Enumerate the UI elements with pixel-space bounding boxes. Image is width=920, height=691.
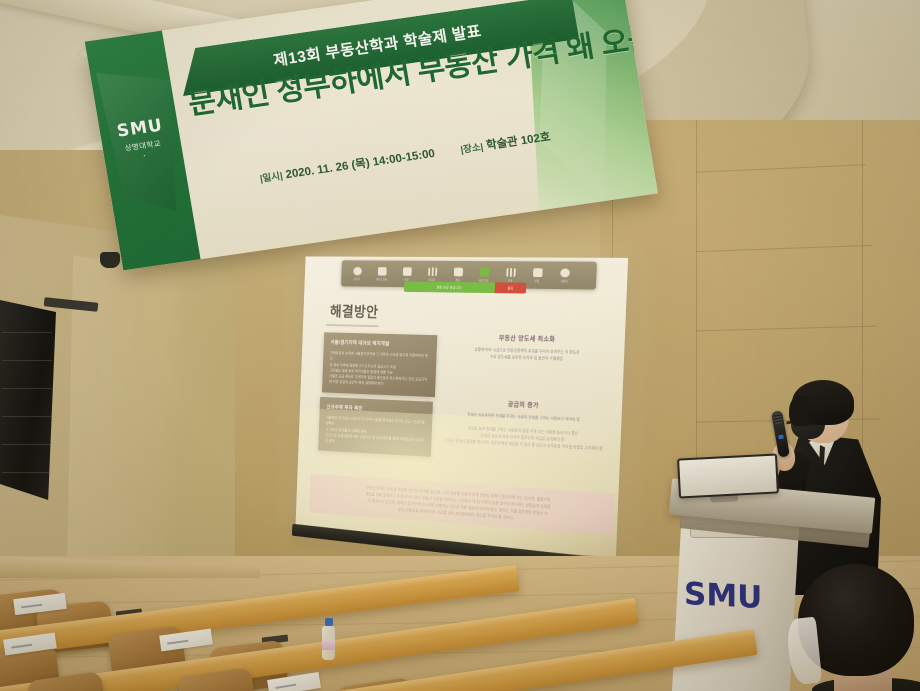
slide-box-line: 서울권 공급 확대로 주변지역 집값의 풍선효과 최소화하거나 신규 공급지역에… [329, 373, 429, 389]
slide-right-section-2: 공급의 증가 전세가 상승하려면 전세를 주려는 사람이 전세를 구하는 사람보… [440, 396, 608, 453]
podium-logo: SMU [684, 576, 762, 616]
toolbar-security-label: 보안 [404, 277, 408, 281]
banner-date-label: |일시| [259, 171, 283, 185]
video-icon [377, 267, 386, 276]
toolbar-chat-label: 채팅 [455, 278, 460, 282]
ceiling-camera-icon [100, 252, 120, 268]
toolbar-record-button[interactable]: 기록 [501, 268, 521, 283]
banner-place-label: |장소| [460, 142, 484, 156]
slide-title: 해결방안 [330, 301, 379, 322]
banner-date-value: 2020. 11. 26 (목) 14:00-15:00 [285, 148, 436, 181]
banner-date-group: |일시| 2020. 11. 26 (목) 14:00-15:00 [259, 145, 437, 186]
slide-right-section-1: 부동산 양도세 최소화 상황에 따라 시급으로 부동산정책적 효과를 우리가 보… [445, 332, 611, 365]
slide-section-title: 부동산 양도세 최소화 [446, 332, 611, 345]
slide-box-title: 신규주택 투자 촉진 [326, 404, 425, 415]
toolbar-more-label: 자세히 [561, 279, 568, 283]
projected-slide: 음소거 비디오 중지 보안 참가자 채팅 [295, 256, 628, 557]
toolbar-record-label: 기록 [508, 278, 513, 282]
confidence-monitor[interactable] [677, 453, 779, 498]
toolbar-mute-button[interactable]: 음소거 [348, 266, 366, 280]
slide-left-box-2: 신규주택 투자 촉진 서울에서 차지하는 단독/다가구주택 비중을 파악해서 추… [318, 397, 433, 457]
banner-smu-logo: SMU 상명대학교 • [111, 117, 173, 163]
sharing-status-label: 화면 공유 중입니다 [404, 281, 495, 293]
toolbar-chat-button[interactable]: 채팅 [448, 267, 467, 282]
sharing-status-strip[interactable]: 화면 공유 중입니다 중지 [404, 281, 526, 293]
slide-box-title: 서울/경기지역 대규모 택지개발 [330, 339, 430, 348]
more-icon [560, 268, 570, 277]
toolbar-reactions-button[interactable]: 반응 [527, 268, 547, 283]
microphone-icon [353, 266, 362, 274]
toolbar-video-button[interactable]: 비디오 중지 [373, 267, 392, 281]
record-icon [506, 268, 516, 277]
slide-summary-box: 부동산 문제는 부동산 특성을 감안한 지역별, 물건별, 사회 계층별 상황에… [309, 474, 614, 536]
toolbar-security-button[interactable]: 보안 [397, 267, 416, 281]
water-bottle [322, 618, 335, 660]
lecture-hall-photo: SMU 상명대학교 • 제13회 부동산학과 학술제 발표 문재인 정부하에서 … [0, 0, 920, 691]
presenter-hair [792, 380, 854, 425]
toolbar-reactions-label: 반응 [535, 279, 540, 283]
toolbar-mute-label: 음소거 [354, 277, 360, 281]
toolbar-video-label: 비디오 중지 [376, 277, 388, 281]
audience-member [790, 560, 920, 691]
projection-screen: 음소거 비디오 중지 보안 참가자 채팅 [295, 256, 628, 557]
chat-icon [453, 267, 462, 276]
toolbar-participants-button[interactable]: 참가자 [423, 267, 442, 281]
security-icon [402, 267, 411, 276]
participants-icon [428, 267, 437, 276]
slide-left-box-1: 서울/경기지역 대규모 택지개발 주택공급이 부족한 서울경기권역에 그 지역의… [322, 332, 437, 396]
share-screen-icon [479, 267, 488, 276]
toolbar-participants-label: 참가자 [429, 277, 436, 281]
reactions-icon [533, 268, 543, 277]
end-meeting-button[interactable]: 중지 [495, 282, 527, 293]
line-array-speaker [0, 300, 56, 500]
toolbar-share-screen-button[interactable]: 화면 공유 [474, 267, 494, 282]
toolbar-more-button[interactable]: 자세히 [554, 268, 574, 283]
